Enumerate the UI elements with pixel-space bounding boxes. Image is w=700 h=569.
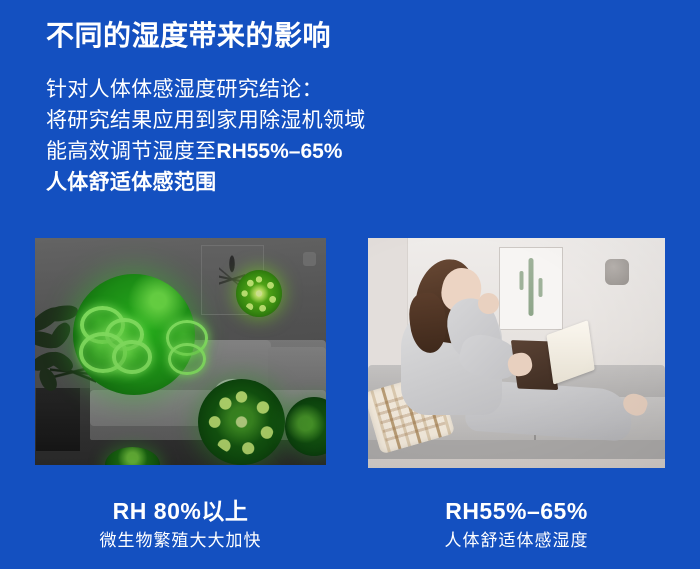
intro-line-4: 人体舒适体感范围	[46, 167, 466, 198]
microbe-cluster-large	[73, 274, 195, 394]
wall-art-cactus	[499, 247, 563, 330]
humidity-infographic: 不同的湿度带来的影响 针对人体体感湿度研究结论： 将研究结果应用到家用除湿机领域…	[0, 0, 700, 569]
caption-subtitle: 微生物繁殖大大加快	[35, 528, 326, 553]
woman-hand-at-head	[478, 293, 499, 314]
intro-line-1: 针对人体体感湿度研究结论：	[46, 74, 466, 105]
wall-speaker	[605, 259, 629, 285]
caption-high-humidity: RH 80%以上 微生物繁殖大大加快	[35, 497, 326, 553]
intro-paragraph: 针对人体体感湿度研究结论： 将研究结果应用到家用除湿机领域 能高效调节湿度至RH…	[46, 74, 466, 198]
caption-title: RH55%–65%	[368, 497, 665, 525]
scene-dark-livingroom	[35, 238, 326, 465]
photo-high-humidity	[35, 238, 326, 465]
wall-speaker	[303, 252, 316, 266]
photo-comfort-humidity	[368, 238, 665, 468]
intro-rh-range: RH55%–65%	[216, 140, 342, 163]
caption-comfort-humidity: RH55%–65% 人体舒适体感湿度	[368, 497, 665, 553]
page-title: 不同的湿度带来的影响	[46, 17, 331, 55]
caption-subtitle: 人体舒适体感湿度	[368, 528, 665, 553]
scene-bright-livingroom	[368, 238, 665, 468]
intro-line-3: 能高效调节湿度至RH55%–65%	[46, 136, 466, 167]
cactus-illustration	[528, 258, 533, 316]
caption-title: RH 80%以上	[35, 497, 326, 525]
intro-line-2: 将研究结果应用到家用除湿机领域	[46, 105, 466, 136]
microbe-large-bottom	[198, 379, 285, 465]
intro-line-3-prefix: 能高效调节湿度至	[46, 140, 216, 163]
